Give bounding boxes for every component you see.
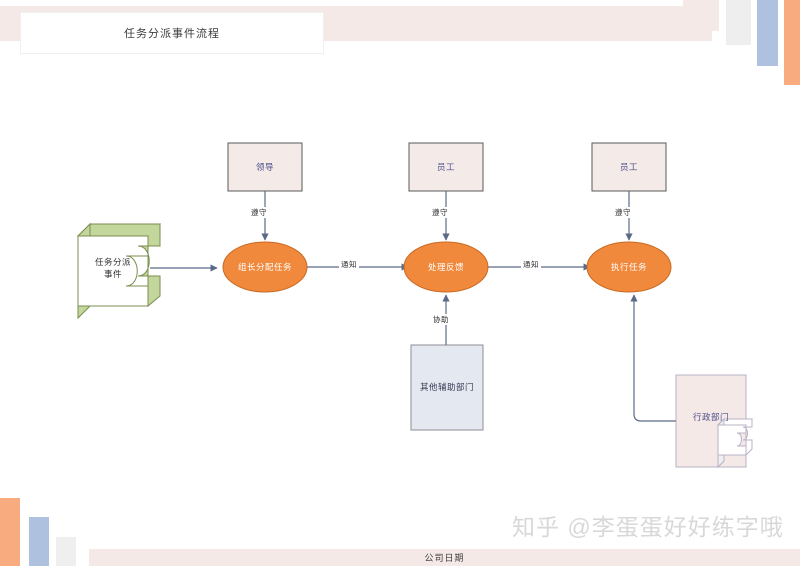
- edge-label-notify-1: 通知: [339, 259, 359, 270]
- slide-canvas: 任务分派事件流程 公司日期 知乎 @李蛋蛋好好练字哦: [0, 0, 800, 566]
- role-box-2: [409, 143, 483, 191]
- edge-label-comply-1: 遵守: [249, 207, 269, 218]
- activity-ellipse-3: [587, 242, 671, 292]
- edge-label-comply-3: 遵守: [613, 207, 633, 218]
- edge-admin-to-act3: [634, 295, 676, 421]
- activity-ellipse-1: [223, 242, 307, 292]
- edge-label-comply-2: 遵守: [430, 207, 450, 218]
- start-event-shape: [78, 224, 160, 318]
- role-box-1: [228, 143, 302, 191]
- flowchart-graphic: [0, 0, 800, 566]
- edge-label-assist: 协助: [431, 314, 451, 325]
- support-dept-box: [411, 345, 483, 430]
- edge-label-notify-2: 通知: [521, 259, 541, 270]
- role-box-3: [592, 143, 666, 191]
- activity-ellipse-2: [404, 242, 488, 292]
